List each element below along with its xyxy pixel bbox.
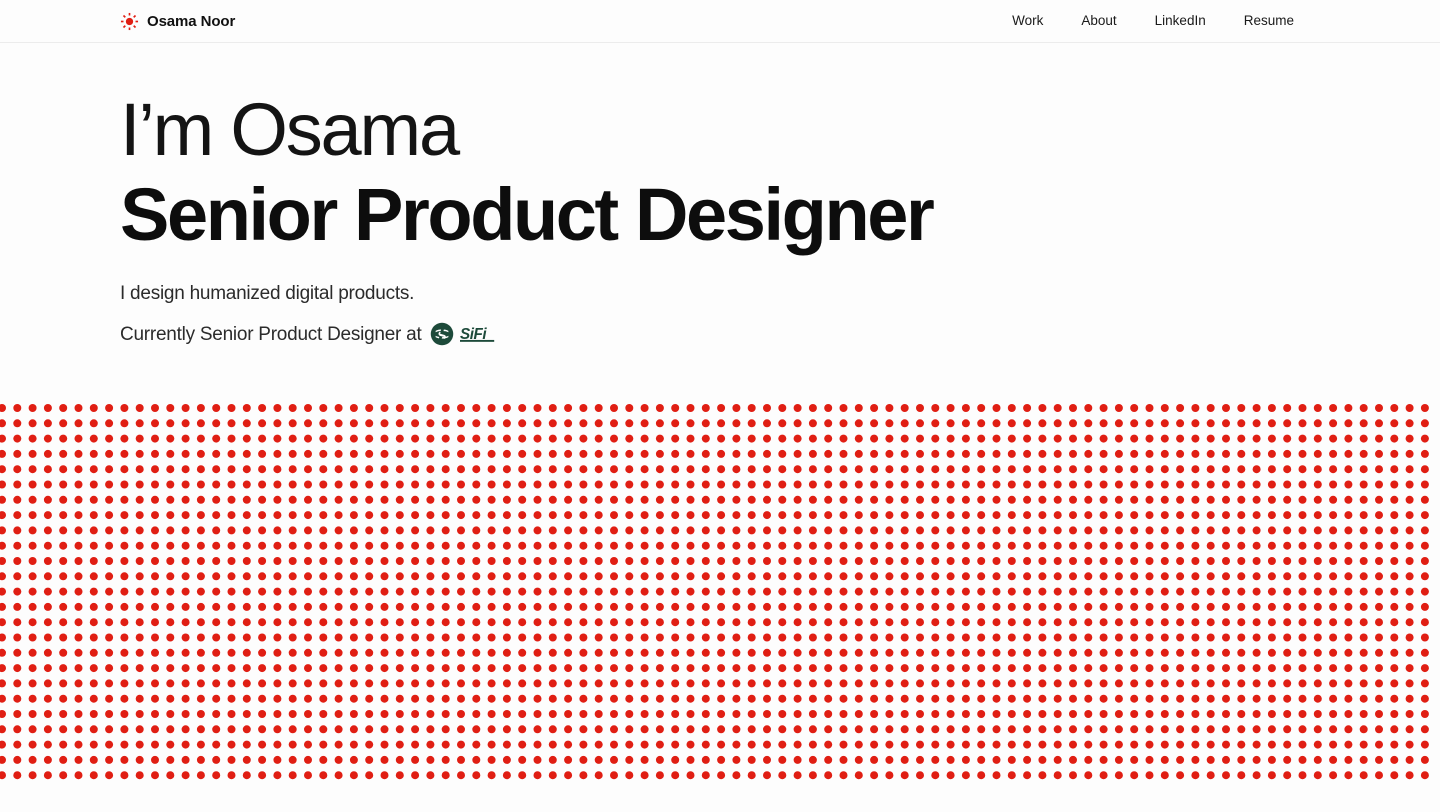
title-line-role: Senior Product Designer	[120, 172, 1440, 259]
brand-logo-link[interactable]: Osama Noor	[120, 12, 235, 31]
nav-item-resume[interactable]: Resume	[1244, 14, 1294, 28]
hero-current-role-text: Currently Senior Product Designer at	[120, 325, 421, 344]
site-header: Osama Noor Work About LinkedIn Resume	[0, 0, 1440, 43]
hero-tagline: I design humanized digital products.	[120, 284, 1440, 303]
nav-item-linkedin[interactable]: LinkedIn	[1155, 14, 1206, 28]
employer-logo-sifi[interactable]: SiFi	[430, 322, 525, 346]
title-line-greeting: I’m Osama	[120, 89, 1440, 172]
main-nav: Work About LinkedIn Resume	[1012, 14, 1294, 28]
hero-tagline-text: I design humanized digital products.	[120, 284, 414, 303]
sun-icon	[120, 12, 139, 31]
hero-current-role: Currently Senior Product Designer at SiF…	[120, 322, 1440, 346]
hero-subtitle-group: I design humanized digital products. Cur…	[120, 284, 1440, 346]
nav-item-about[interactable]: About	[1081, 14, 1116, 28]
brand-name: Osama Noor	[147, 14, 235, 29]
sifi-wordmark: SiFi	[460, 325, 525, 343]
red-dot-grid-decoration	[0, 401, 1440, 786]
hero-section: I’m Osama Senior Product Designer I desi…	[0, 89, 1440, 346]
page-title: I’m Osama Senior Product Designer	[120, 89, 1440, 258]
nav-item-work[interactable]: Work	[1012, 14, 1043, 28]
sifi-circle-logo-icon	[430, 322, 454, 346]
